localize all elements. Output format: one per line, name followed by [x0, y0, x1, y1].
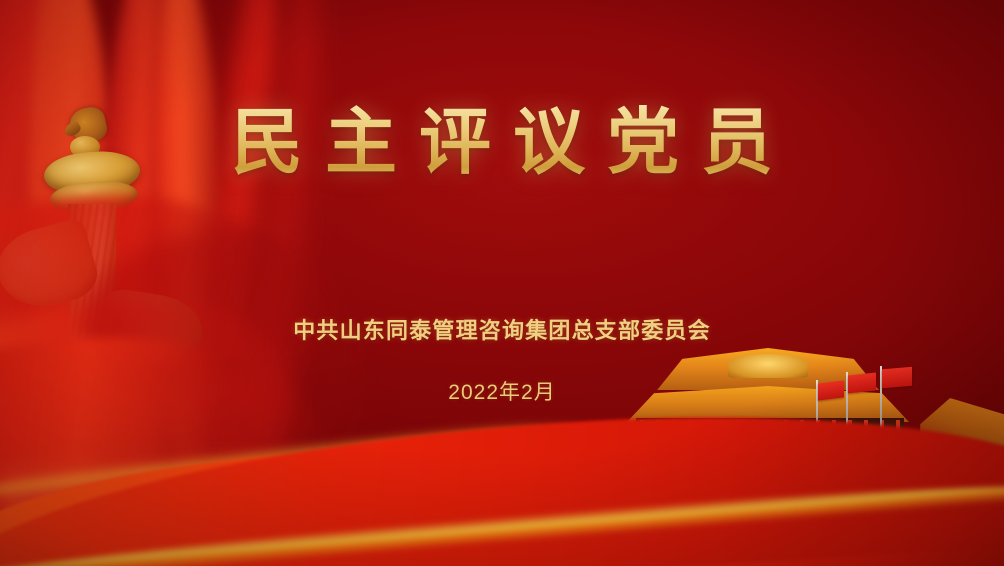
date-block: 2022年2月 [0, 376, 1004, 406]
presentation-title-slide: 中华人民共和国万岁 民主评议党员 中共山东同泰管理咨询集团总支部委员会 2022… [0, 0, 1004, 566]
organization-name: 中共山东同泰管理咨询集团总支部委员会 [0, 313, 1004, 345]
subtitle-block: 中共山东同泰管理咨询集团总支部委员会 [0, 313, 1004, 345]
page-title: 民主评议党员 [209, 104, 795, 183]
title-block: 民主评议党员 [0, 104, 1004, 183]
presentation-date: 2022年2月 [0, 376, 1004, 406]
